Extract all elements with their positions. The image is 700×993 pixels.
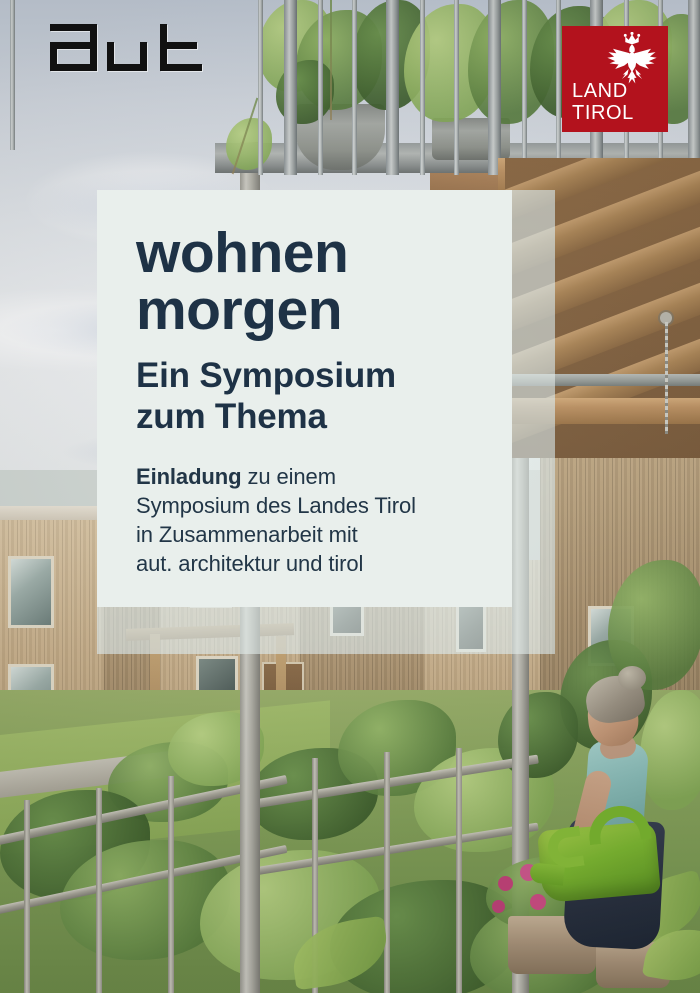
balcony-railing-post — [386, 0, 399, 175]
poster: wohnen morgen Ein Symposium zum Thema Ei… — [0, 0, 700, 993]
balcony-railing-post — [688, 0, 700, 175]
balcony-railing-post — [522, 0, 527, 175]
balcony-railing-post — [10, 0, 15, 150]
window — [8, 556, 54, 628]
flower — [492, 900, 505, 913]
railing-post — [456, 748, 462, 993]
railing-post — [168, 776, 174, 993]
vine-stem — [330, 0, 332, 120]
flower — [530, 894, 546, 910]
hanging-chain — [665, 322, 668, 434]
railing-post — [96, 788, 102, 993]
land-tirol-logo[interactable]: LAND TIROL — [562, 26, 668, 132]
balcony-railing-post — [420, 0, 425, 175]
person-hair-bun — [618, 666, 646, 690]
railing-post — [24, 800, 30, 993]
headline-line-1: wohnen — [136, 225, 536, 282]
railing-post — [384, 752, 390, 993]
body-line-2: Symposium des Landes Tirol — [136, 493, 416, 518]
tirol-line-2: TIROL — [572, 102, 634, 124]
poster-subheadline: Ein Symposium zum Thema — [136, 355, 536, 437]
flower — [498, 876, 513, 891]
subheadline-line-1: Ein Symposium — [136, 355, 536, 396]
balcony-railing-post — [318, 0, 323, 175]
subheadline-line-2: zum Thema — [136, 396, 536, 437]
aut-logo[interactable] — [50, 24, 202, 74]
land-tirol-wordmark: LAND TIROL — [572, 80, 634, 124]
body-line-4: aut. architektur und tirol — [136, 551, 363, 576]
balcony-railing-post — [258, 0, 263, 175]
balcony-railing-post — [352, 0, 357, 175]
balcony-railing-post — [556, 0, 561, 175]
tirol-line-1: LAND — [572, 80, 634, 102]
invitation-body-text: Einladung zu einem Symposium des Landes … — [136, 462, 476, 578]
body-line-1-rest: zu einem — [241, 464, 335, 489]
body-line-3: in Zusammenarbeit mit — [136, 522, 358, 547]
poster-headline: wohnen morgen — [136, 225, 536, 339]
aut-wordmark-icon — [50, 24, 202, 74]
balcony-railing-post — [284, 0, 297, 175]
headline-line-2: morgen — [136, 282, 536, 339]
balcony-railing-post — [454, 0, 459, 175]
balcony-railing-post — [488, 0, 501, 175]
body-lead-word: Einladung — [136, 464, 241, 489]
